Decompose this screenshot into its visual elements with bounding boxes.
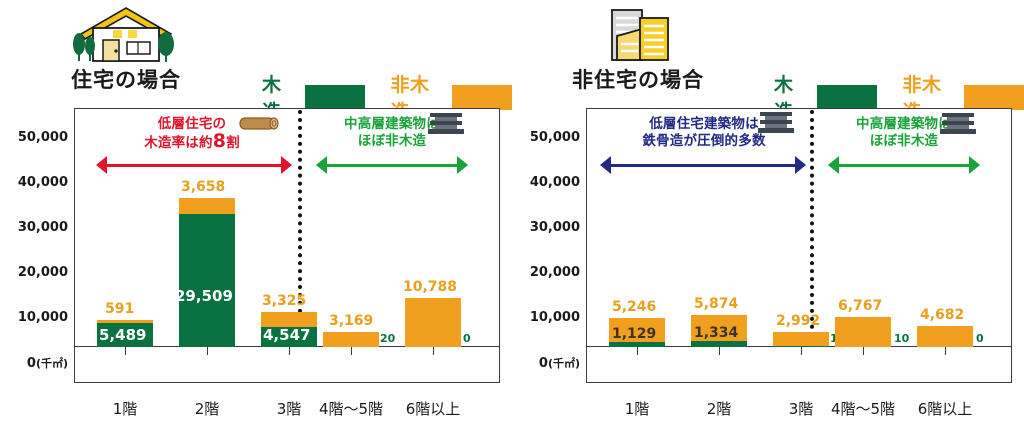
arrow-shaft	[105, 164, 283, 167]
arrow-mid-high-residential	[316, 156, 468, 174]
steel-beam-icon	[426, 111, 466, 141]
bar-label-wood-2f: 29,509	[175, 287, 233, 305]
x-tick-mark	[801, 347, 802, 355]
x-axis-labels-non-residential: 1階 2階 3階 4階〜5階 6階以上	[586, 383, 1012, 421]
x-tick-mark	[125, 347, 126, 355]
chart-board: 住宅の場合 木造 非木造 50,000 40,000 30,000 20,000…	[0, 0, 1024, 421]
bar-label-nonwood-4to5f: 6,767	[838, 298, 882, 314]
bar-segment-nonwood	[405, 298, 461, 347]
x-tick-mark	[637, 347, 638, 355]
arrow-head-right	[457, 156, 468, 174]
bar-label-nonwood-3f: 2,992	[776, 313, 820, 329]
bar-segment-nonwood	[179, 198, 235, 214]
bar-label-nonwood-6fplus: 10,788	[403, 279, 457, 295]
bar-label-wood-3f: 4,547	[263, 326, 310, 344]
x-category-4to5f: 4階〜5階	[306, 398, 396, 419]
y-axis-unit: (千㎡)	[548, 357, 580, 370]
y-tick-30000: 30,000	[18, 220, 68, 235]
arrow-head-right	[281, 156, 292, 174]
bar-label-nonwood-4to5f: 3,169	[329, 313, 373, 329]
x-tick-mark	[719, 347, 720, 355]
panel-header-non-residential: 非住宅の場合 木造 非木造	[512, 0, 1024, 104]
y-tick-40000: 40,000	[530, 175, 580, 190]
bar-label-nonwood-2f: 3,658	[181, 179, 225, 195]
bar-label-wood-1f: 1,129	[612, 326, 656, 342]
bar-segment-nonwood	[261, 312, 317, 327]
steel-beam-icon	[756, 110, 796, 140]
y-tick-40000: 40,000	[18, 175, 68, 190]
y-tick-30000: 30,000	[530, 220, 580, 235]
arrow-head-right	[969, 156, 980, 174]
buildings-icon	[538, 2, 738, 64]
title-block-residential: 住宅の場合	[26, 2, 226, 94]
x-tick-mark	[289, 347, 290, 355]
y-axis-residential: 50,000 40,000 30,000 20,000 10,000 0(千㎡)	[0, 108, 74, 383]
y-tick-10000: 10,000	[530, 310, 580, 325]
bar-label-nonwood-1f: 591	[105, 301, 134, 317]
y-axis-unit: (千㎡)	[36, 357, 68, 370]
bar-segment-nonwood	[773, 332, 829, 346]
bar-label-wood-6fplus: 0	[976, 332, 984, 345]
y-tick-0: 0(千㎡)	[27, 355, 68, 371]
bar-group-4to5f-residential	[323, 332, 379, 347]
panel-header-residential: 住宅の場合 木造 非木造	[0, 0, 512, 104]
legend-swatch-wood	[305, 85, 365, 110]
category-divider-residential	[298, 110, 302, 345]
bar-segment-wood	[179, 214, 235, 347]
y-tick-50000: 50,000	[530, 130, 580, 145]
bar-segment-nonwood	[97, 320, 153, 323]
bar-label-nonwood-2f: 5,874	[694, 296, 738, 312]
x-category-6fplus: 6階以上	[902, 398, 988, 419]
steel-beam-icon	[938, 111, 978, 141]
y-tick-0-value: 0	[27, 356, 36, 371]
x-category-2f: 2階	[167, 398, 247, 419]
x-tick-mark	[207, 347, 208, 355]
bar-label-wood-4to5f: 10	[894, 332, 909, 345]
annotation-line-2-pre: 木造率は約	[144, 135, 213, 151]
bar-label-nonwood-6fplus: 4,682	[920, 307, 964, 323]
bar-label-wood-6fplus: 0	[463, 332, 471, 345]
y-tick-20000: 20,000	[530, 265, 580, 280]
x-category-4to5f: 4階〜5階	[818, 398, 908, 419]
bar-label-wood-4to5f: 20	[380, 332, 395, 345]
arrow-shaft	[609, 164, 797, 167]
bar-segment-nonwood	[323, 332, 379, 347]
y-tick-20000: 20,000	[18, 265, 68, 280]
plot-area-non-residential: 低層住宅建築物は 鉄骨造が圧倒的多数 中高層建築物は	[586, 108, 1012, 383]
house-icon	[26, 2, 226, 64]
bar-group-6fplus-non-residential	[917, 326, 973, 347]
x-tick-mark	[433, 347, 434, 355]
bar-group-2f-residential	[179, 198, 235, 347]
y-tick-0-value: 0	[539, 356, 548, 371]
bar-segment-nonwood	[835, 317, 891, 347]
bar-label-nonwood-3f: 3,325	[262, 293, 306, 309]
arrow-shaft	[325, 164, 459, 167]
bar-label-wood-2f: 1,334	[694, 325, 738, 341]
y-axis-non-residential: 50,000 40,000 30,000 20,000 10,000 0(千㎡)	[512, 108, 586, 383]
y-tick-0: 0(千㎡)	[539, 355, 580, 371]
bar-segment-nonwood	[917, 326, 973, 347]
x-tick-mark	[351, 347, 352, 355]
annotation-line-2-big: 8	[213, 130, 226, 152]
panel-residential: 住宅の場合 木造 非木造 50,000 40,000 30,000 20,000…	[0, 0, 512, 421]
panel-non-residential: 非住宅の場合 木造 非木造 50,000 40,000 30,000 20,00…	[512, 0, 1024, 421]
x-category-1f: 1階	[597, 398, 677, 419]
x-category-6fplus: 6階以上	[390, 398, 476, 419]
legend-swatch-wood	[817, 85, 877, 110]
bar-group-4to5f-non-residential	[835, 317, 891, 347]
bar-group-3f-non-residential	[773, 332, 829, 347]
y-tick-10000: 10,000	[18, 310, 68, 325]
arrow-low-rise-residential	[96, 156, 292, 174]
x-tick-mark	[863, 347, 864, 355]
arrow-mid-high-non-residential	[828, 156, 980, 174]
arrow-low-rise-non-residential	[600, 156, 806, 174]
bar-group-6fplus-residential	[405, 298, 461, 347]
title-block-non-residential: 非住宅の場合	[538, 2, 738, 94]
x-tick-mark	[945, 347, 946, 355]
bar-label-nonwood-1f: 5,246	[612, 299, 656, 315]
arrow-shaft	[837, 164, 971, 167]
panel-title-non-residential: 非住宅の場合	[538, 66, 738, 94]
legend-swatch-nonwood	[964, 85, 1024, 110]
category-divider-non-residential	[810, 110, 814, 345]
panel-title-residential: 住宅の場合	[26, 66, 226, 94]
x-category-2f: 2階	[679, 398, 759, 419]
x-category-1f: 1階	[85, 398, 165, 419]
x-axis-labels-residential: 1階 2階 3階 4階〜5階 6階以上	[74, 383, 500, 421]
legend-swatch-nonwood	[452, 85, 512, 110]
bar-label-wood-1f: 5,489	[99, 326, 146, 344]
arrow-head-right	[795, 156, 806, 174]
plot-area-residential: 低層住宅の 木造率は約8割 中高層建築物は ほぼ非木造	[74, 108, 500, 383]
wood-log-icon	[236, 114, 280, 138]
y-tick-50000: 50,000	[18, 130, 68, 145]
